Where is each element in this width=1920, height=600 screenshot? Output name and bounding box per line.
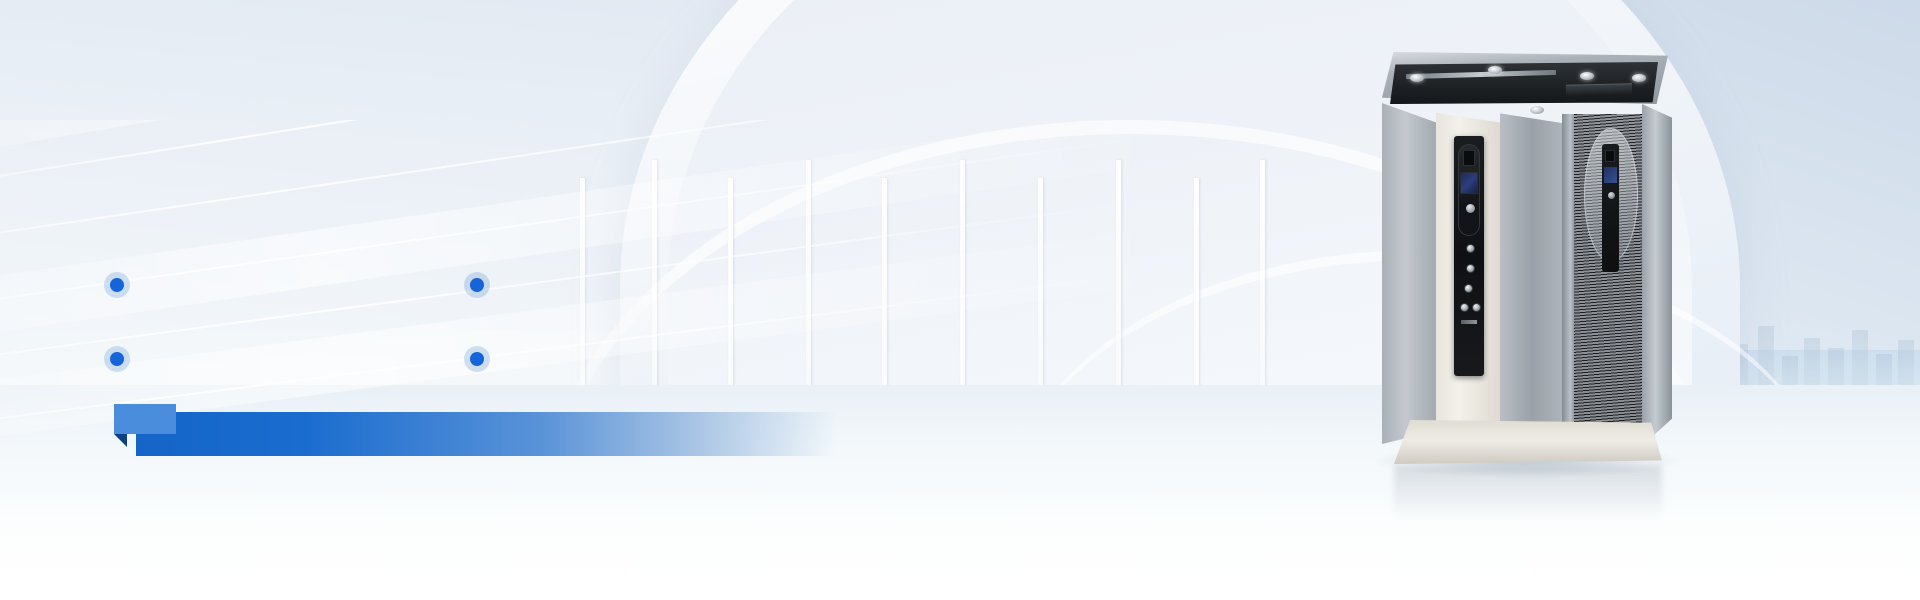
door-close-button-icon[interactable] (1472, 303, 1481, 312)
list-item (464, 272, 934, 298)
highlight-tag-tab (114, 404, 176, 434)
cabin-wall-left (1382, 96, 1440, 444)
feature-row (104, 322, 1034, 396)
floor-button-icon[interactable] (1464, 284, 1473, 293)
bullet-dot-icon (104, 272, 130, 298)
bullet-dot-icon (464, 346, 490, 372)
elevator-cabin-image (1370, 52, 1680, 452)
floor-button-icon[interactable] (1466, 244, 1475, 253)
bullet-dot-icon (464, 272, 490, 298)
bullet-dot-icon (104, 346, 130, 372)
copy-block (0, 0, 1100, 600)
page-title (104, 108, 132, 180)
highlight-tag (104, 404, 864, 460)
floor-indicator-display (1463, 150, 1475, 166)
inner-floor-indicator-display (1605, 150, 1615, 162)
list-item (104, 346, 464, 372)
list-item (104, 272, 464, 298)
highlight-tag-band (136, 412, 836, 456)
inner-control-panel (1602, 144, 1619, 272)
inner-control-panel-lcd (1604, 167, 1617, 183)
ceiling-spotlight-icon (1530, 106, 1544, 114)
cabin-ceiling-vent (1566, 83, 1632, 97)
ceiling-spotlight-icon (1632, 74, 1646, 82)
cabin-panel-grey (1500, 110, 1564, 444)
feature-row (104, 248, 1034, 322)
cabin-floor-reflection (1394, 466, 1662, 520)
highlight-tag-fold-icon (114, 434, 127, 447)
floor-button-icon[interactable] (1466, 264, 1475, 273)
control-panel-knob-icon[interactable] (1466, 204, 1475, 213)
cabin-wall-right (1642, 104, 1672, 446)
ceiling-spotlight-icon (1580, 72, 1594, 80)
cabin-floor (1394, 420, 1662, 464)
control-panel-logo (1461, 320, 1477, 324)
control-panel-lcd-screen (1460, 172, 1478, 194)
inner-control-panel-knob-icon (1608, 192, 1615, 199)
ceiling-spotlight-icon (1410, 74, 1424, 82)
door-open-button-icon[interactable] (1460, 303, 1469, 312)
promo-banner (0, 0, 1920, 600)
ceiling-spotlight-icon (1488, 66, 1502, 74)
list-item (464, 346, 934, 372)
feature-list (104, 248, 1034, 396)
